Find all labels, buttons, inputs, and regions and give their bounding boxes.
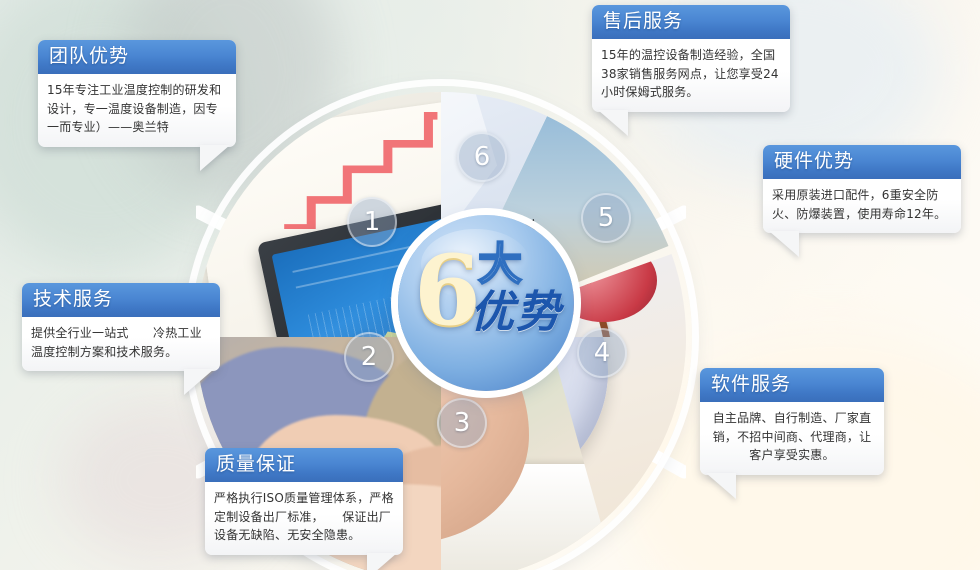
callout-title: 硬件优势 <box>763 145 961 179</box>
callout-title: 技术服务 <box>22 283 220 317</box>
callout-tail-icon <box>200 145 230 171</box>
callout-box: 技术服务 提供全行业一站式 冷热工业温度控制方案和技术服务。 <box>22 283 220 371</box>
center-hub: 6 大 优势 <box>398 215 574 391</box>
callout-box: 软件服务 自主品牌、自行制造、厂家直销，不招中间商、代理商，让客户享受实惠。 <box>700 368 884 475</box>
callout-body: 15年的温控设备制造经验，全国38家销售服务网点，让您享受24小时保姆式服务。 <box>592 39 790 112</box>
segment-number-badge-4[interactable]: 4 <box>577 328 627 378</box>
callout-title: 质量保证 <box>205 448 403 482</box>
callout-body: 采用原装进口配件，6重安全防火、防爆装置，使用寿命12年。 <box>763 179 961 233</box>
callout-body: 15年专注工业温度控制的研发和设计，专一温度设备制造，因专一而专业）——奥兰特 <box>38 74 236 147</box>
callout-tail-icon <box>367 553 397 570</box>
callout-quality-assurance[interactable]: 质量保证 严格执行ISO质量管理体系，严格定制设备出厂标准， 保证出厂设备无缺陷… <box>205 448 403 555</box>
callout-body: 自主品牌、自行制造、厂家直销，不招中间商、代理商，让客户享受实惠。 <box>700 402 884 475</box>
callout-box: 硬件优势 采用原装进口配件，6重安全防火、防爆装置，使用寿命12年。 <box>763 145 961 233</box>
callout-tail-icon <box>598 110 628 136</box>
callout-after-sales-service[interactable]: 售后服务 15年的温控设备制造经验，全国38家销售服务网点，让您享受24小时保姆… <box>592 5 790 112</box>
segment-number-badge-6[interactable]: 6 <box>457 132 507 182</box>
callout-box: 团队优势 15年专注工业温度控制的研发和设计，专一温度设备制造，因专一而专业）—… <box>38 40 236 147</box>
callout-team-advantage[interactable]: 团队优势 15年专注工业温度控制的研发和设计，专一温度设备制造，因专一而专业）—… <box>38 40 236 147</box>
callout-body: 严格执行ISO质量管理体系，严格定制设备出厂标准， 保证出厂设备无缺陷、无安全隐… <box>205 482 403 555</box>
hub-word-youshi: 优势 <box>470 291 562 335</box>
segment-number-badge-5[interactable]: 5 <box>581 193 631 243</box>
callout-hardware-advantage[interactable]: 硬件优势 采用原装进口配件，6重安全防火、防爆装置，使用寿命12年。 <box>763 145 961 233</box>
callout-software-service[interactable]: 软件服务 自主品牌、自行制造、厂家直销，不招中间商、代理商，让客户享受实惠。 <box>700 368 884 475</box>
hub-word-da: 大 <box>478 243 522 287</box>
callout-box: 质量保证 严格执行ISO质量管理体系，严格定制设备出厂标准， 保证出厂设备无缺陷… <box>205 448 403 555</box>
callout-tail-icon <box>769 231 799 257</box>
segment-number-badge-1[interactable]: 1 <box>347 197 397 247</box>
callout-body: 提供全行业一站式 冷热工业温度控制方案和技术服务。 <box>22 317 220 371</box>
callout-technical-service[interactable]: 技术服务 提供全行业一站式 冷热工业温度控制方案和技术服务。 <box>22 283 220 371</box>
callout-title: 软件服务 <box>700 368 884 402</box>
callout-title: 售后服务 <box>592 5 790 39</box>
callout-tail-icon <box>706 473 736 499</box>
callout-tail-icon <box>184 369 214 395</box>
callout-box: 售后服务 15年的温控设备制造经验，全国38家销售服务网点，让您享受24小时保姆… <box>592 5 790 112</box>
infographic-canvas: 1 2 3 4 5 6 6 大 优势 团队优势 15年专注工业温度控制的研发和设… <box>0 0 980 570</box>
segment-number-badge-3[interactable]: 3 <box>437 398 487 448</box>
segment-number-badge-2[interactable]: 2 <box>344 332 394 382</box>
callout-title: 团队优势 <box>38 40 236 74</box>
